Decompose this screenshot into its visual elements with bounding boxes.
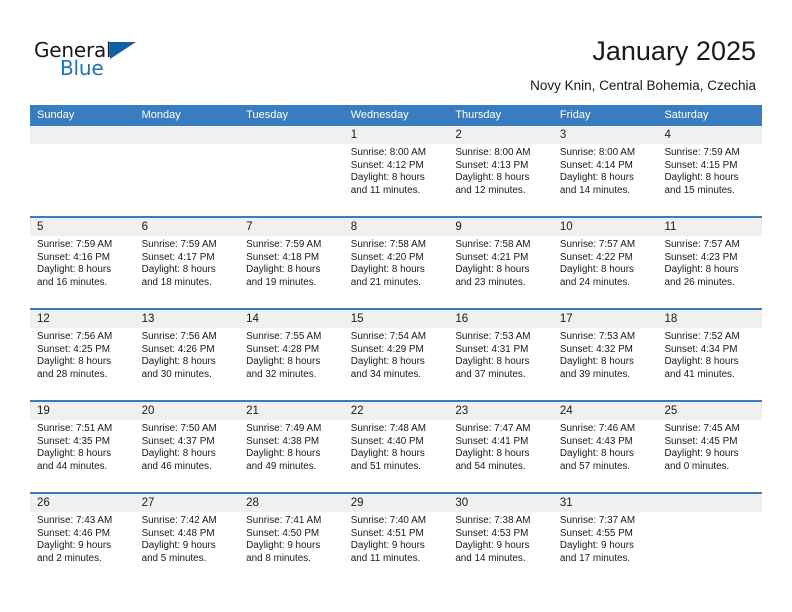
week-date-band: 19202122232425 (30, 402, 762, 420)
day-number-30[interactable]: 30 (448, 494, 553, 512)
day-cell-21[interactable]: Sunrise: 7:49 AMSunset: 4:38 PMDaylight:… (239, 420, 344, 492)
week-detail-band: Sunrise: 7:51 AMSunset: 4:35 PMDaylight:… (30, 420, 762, 492)
day-info-line: and 26 minutes. (664, 277, 756, 290)
day-cell-1[interactable]: Sunrise: 8:00 AMSunset: 4:12 PMDaylight:… (344, 144, 449, 216)
day-info-line: Sunrise: 7:58 AM (351, 239, 443, 252)
day-info-line: Daylight: 8 hours (37, 264, 129, 277)
day-cell-25[interactable]: Sunrise: 7:45 AMSunset: 4:45 PMDaylight:… (657, 420, 762, 492)
day-info-line: Daylight: 8 hours (246, 264, 338, 277)
day-info-line: Sunset: 4:29 PM (351, 344, 443, 357)
day-number-15[interactable]: 15 (344, 310, 449, 328)
day-info-line: Sunset: 4:32 PM (560, 344, 652, 357)
day-info-line: and 18 minutes. (142, 277, 234, 290)
triangle-icon (110, 42, 136, 59)
day-info-line: Daylight: 8 hours (142, 448, 234, 461)
day-info-line: Daylight: 8 hours (664, 356, 756, 369)
day-info-line: Sunset: 4:46 PM (37, 528, 129, 541)
day-cell-23[interactable]: Sunrise: 7:47 AMSunset: 4:41 PMDaylight:… (448, 420, 553, 492)
weekday-header-monday: Monday (135, 105, 240, 126)
day-cell-15[interactable]: Sunrise: 7:54 AMSunset: 4:29 PMDaylight:… (344, 328, 449, 400)
page-subtitle-location: Novy Knin, Central Bohemia, Czechia (530, 78, 756, 93)
day-info-line: Daylight: 8 hours (455, 264, 547, 277)
day-info-line: Sunrise: 7:41 AM (246, 515, 338, 528)
day-number-1[interactable]: 1 (344, 126, 449, 144)
day-cell-20[interactable]: Sunrise: 7:50 AMSunset: 4:37 PMDaylight:… (135, 420, 240, 492)
day-info-line: Sunrise: 7:53 AM (455, 331, 547, 344)
day-info-line: Sunset: 4:22 PM (560, 252, 652, 265)
day-info-line: Daylight: 9 hours (246, 540, 338, 553)
day-number-17[interactable]: 17 (553, 310, 658, 328)
week-detail-band: Sunrise: 7:56 AMSunset: 4:25 PMDaylight:… (30, 328, 762, 400)
day-info-line: and 39 minutes. (560, 369, 652, 382)
calendar-grid: SundayMondayTuesdayWednesdayThursdayFrid… (30, 105, 762, 584)
day-info-line: Sunrise: 7:57 AM (664, 239, 756, 252)
calendar-page: General Blue January 2025 Novy Knin, Cen… (0, 0, 792, 612)
day-info-line: Daylight: 8 hours (37, 448, 129, 461)
day-info-line: Daylight: 8 hours (560, 448, 652, 461)
weekday-header-saturday: Saturday (657, 105, 762, 126)
day-info-line: and 44 minutes. (37, 461, 129, 474)
day-info-line: Sunrise: 7:49 AM (246, 423, 338, 436)
day-info-line: Daylight: 8 hours (560, 172, 652, 185)
weekday-header-row: SundayMondayTuesdayWednesdayThursdayFrid… (30, 105, 762, 126)
day-info-line: and 34 minutes. (351, 369, 443, 382)
day-info-line: and 49 minutes. (246, 461, 338, 474)
day-cell-24[interactable]: Sunrise: 7:46 AMSunset: 4:43 PMDaylight:… (553, 420, 658, 492)
day-info-line: Sunrise: 7:57 AM (560, 239, 652, 252)
day-info-line: Daylight: 8 hours (246, 356, 338, 369)
day-number-empty (239, 126, 344, 144)
day-info-line: Sunset: 4:41 PM (455, 436, 547, 449)
day-cell-empty (135, 144, 240, 216)
day-info-line: Sunrise: 7:38 AM (455, 515, 547, 528)
day-cell-22[interactable]: Sunrise: 7:48 AMSunset: 4:40 PMDaylight:… (344, 420, 449, 492)
day-info-line: and 28 minutes. (37, 369, 129, 382)
day-info-line: Daylight: 8 hours (560, 264, 652, 277)
day-cell-17[interactable]: Sunrise: 7:53 AMSunset: 4:32 PMDaylight:… (553, 328, 658, 400)
day-number-2[interactable]: 2 (448, 126, 553, 144)
day-info-line: Sunrise: 7:59 AM (246, 239, 338, 252)
day-info-line: Sunset: 4:18 PM (246, 252, 338, 265)
day-number-14[interactable]: 14 (239, 310, 344, 328)
day-info-line: Sunset: 4:43 PM (560, 436, 652, 449)
day-number-21[interactable]: 21 (239, 402, 344, 420)
day-info-line: Sunrise: 7:53 AM (560, 331, 652, 344)
calendar-week-row: 19202122232425Sunrise: 7:51 AMSunset: 4:… (30, 400, 762, 492)
day-info-line: Sunrise: 7:43 AM (37, 515, 129, 528)
day-info-line: and 51 minutes. (351, 461, 443, 474)
week-date-band: 12131415161718 (30, 310, 762, 328)
calendar-week-row: 567891011Sunrise: 7:59 AMSunset: 4:16 PM… (30, 216, 762, 308)
day-cell-16[interactable]: Sunrise: 7:53 AMSunset: 4:31 PMDaylight:… (448, 328, 553, 400)
week-date-band: 1234 (30, 126, 762, 144)
week-detail-band: Sunrise: 8:00 AMSunset: 4:12 PMDaylight:… (30, 144, 762, 216)
day-number-31[interactable]: 31 (553, 494, 658, 512)
day-info-line: and 8 minutes. (246, 553, 338, 566)
day-info-line: Sunset: 4:50 PM (246, 528, 338, 541)
day-info-line: Sunrise: 7:59 AM (664, 147, 756, 160)
day-number-18[interactable]: 18 (657, 310, 762, 328)
day-info-line: Sunset: 4:23 PM (664, 252, 756, 265)
day-info-line: Daylight: 9 hours (664, 448, 756, 461)
page-header: General Blue January 2025 Novy Knin, Cen… (0, 0, 792, 100)
day-info-line: and 5 minutes. (142, 553, 234, 566)
day-info-line: Sunset: 4:53 PM (455, 528, 547, 541)
day-number-22[interactable]: 22 (344, 402, 449, 420)
day-info-line: Sunrise: 7:45 AM (664, 423, 756, 436)
day-info-line: Sunset: 4:16 PM (37, 252, 129, 265)
day-info-line: Sunrise: 7:48 AM (351, 423, 443, 436)
day-info-line: Sunrise: 7:52 AM (664, 331, 756, 344)
day-number-27[interactable]: 27 (135, 494, 240, 512)
day-info-line: Sunset: 4:38 PM (246, 436, 338, 449)
day-info-line: Sunrise: 7:56 AM (37, 331, 129, 344)
day-info-line: and 2 minutes. (37, 553, 129, 566)
day-info-line: and 14 minutes. (560, 185, 652, 198)
day-info-line: Daylight: 8 hours (37, 356, 129, 369)
day-number-6[interactable]: 6 (135, 218, 240, 236)
day-info-line: Daylight: 9 hours (142, 540, 234, 553)
day-info-line: Sunset: 4:40 PM (351, 436, 443, 449)
day-info-line: Sunset: 4:12 PM (351, 160, 443, 173)
day-number-26[interactable]: 26 (30, 494, 135, 512)
day-number-12[interactable]: 12 (30, 310, 135, 328)
day-info-line: Daylight: 8 hours (142, 264, 234, 277)
day-cell-5[interactable]: Sunrise: 7:59 AMSunset: 4:16 PMDaylight:… (30, 236, 135, 308)
day-info-line: Sunset: 4:51 PM (351, 528, 443, 541)
day-number-4[interactable]: 4 (657, 126, 762, 144)
day-info-line: Daylight: 9 hours (455, 540, 547, 553)
day-info-line: Sunrise: 7:54 AM (351, 331, 443, 344)
calendar-week-row: 12131415161718Sunrise: 7:56 AMSunset: 4:… (30, 308, 762, 400)
calendar-week-row: 1234Sunrise: 8:00 AMSunset: 4:12 PMDayli… (30, 126, 762, 216)
day-cell-9[interactable]: Sunrise: 7:58 AMSunset: 4:21 PMDaylight:… (448, 236, 553, 308)
day-info-line: and 0 minutes. (664, 461, 756, 474)
day-info-line: Sunrise: 7:58 AM (455, 239, 547, 252)
day-info-line: Sunset: 4:15 PM (664, 160, 756, 173)
day-info-line: Daylight: 8 hours (664, 264, 756, 277)
weekday-header-tuesday: Tuesday (239, 105, 344, 126)
day-info-line: Daylight: 8 hours (560, 356, 652, 369)
day-info-line: Daylight: 8 hours (351, 448, 443, 461)
day-info-line: and 15 minutes. (664, 185, 756, 198)
day-info-line: and 11 minutes. (351, 185, 443, 198)
day-info-line: Sunrise: 7:59 AM (37, 239, 129, 252)
day-info-line: and 46 minutes. (142, 461, 234, 474)
day-info-line: and 12 minutes. (455, 185, 547, 198)
calendar-week-row: 262728293031Sunrise: 7:43 AMSunset: 4:46… (30, 492, 762, 584)
day-info-line: Daylight: 8 hours (455, 356, 547, 369)
day-number-29[interactable]: 29 (344, 494, 449, 512)
day-number-empty (657, 494, 762, 512)
day-number-3[interactable]: 3 (553, 126, 658, 144)
weekday-header-thursday: Thursday (448, 105, 553, 126)
day-cell-7[interactable]: Sunrise: 7:59 AMSunset: 4:18 PMDaylight:… (239, 236, 344, 308)
day-info-line: Sunset: 4:37 PM (142, 436, 234, 449)
day-number-9[interactable]: 9 (448, 218, 553, 236)
day-cell-29[interactable]: Sunrise: 7:40 AMSunset: 4:51 PMDaylight:… (344, 512, 449, 584)
day-number-16[interactable]: 16 (448, 310, 553, 328)
day-info-line: Sunrise: 7:47 AM (455, 423, 547, 436)
day-cell-11[interactable]: Sunrise: 7:57 AMSunset: 4:23 PMDaylight:… (657, 236, 762, 308)
generalblue-logo[interactable]: General Blue (34, 38, 154, 82)
day-info-line: Sunrise: 8:00 AM (351, 147, 443, 160)
day-info-line: and 41 minutes. (664, 369, 756, 382)
day-number-25[interactable]: 25 (657, 402, 762, 420)
day-number-empty (135, 126, 240, 144)
day-info-line: and 17 minutes. (560, 553, 652, 566)
day-info-line: Sunrise: 7:55 AM (246, 331, 338, 344)
day-info-line: Sunrise: 7:59 AM (142, 239, 234, 252)
day-info-line: and 24 minutes. (560, 277, 652, 290)
day-cell-empty (239, 144, 344, 216)
day-info-line: Sunset: 4:34 PM (664, 344, 756, 357)
day-number-8[interactable]: 8 (344, 218, 449, 236)
day-cell-28[interactable]: Sunrise: 7:41 AMSunset: 4:50 PMDaylight:… (239, 512, 344, 584)
day-cell-14[interactable]: Sunrise: 7:55 AMSunset: 4:28 PMDaylight:… (239, 328, 344, 400)
day-number-28[interactable]: 28 (239, 494, 344, 512)
day-info-line: Sunset: 4:13 PM (455, 160, 547, 173)
day-info-line: Daylight: 8 hours (246, 448, 338, 461)
day-info-line: and 30 minutes. (142, 369, 234, 382)
day-info-line: Sunset: 4:55 PM (560, 528, 652, 541)
day-info-line: Daylight: 8 hours (455, 448, 547, 461)
day-info-line: Daylight: 9 hours (560, 540, 652, 553)
day-info-line: and 32 minutes. (246, 369, 338, 382)
day-number-20[interactable]: 20 (135, 402, 240, 420)
day-cell-12[interactable]: Sunrise: 7:56 AMSunset: 4:25 PMDaylight:… (30, 328, 135, 400)
day-cell-2[interactable]: Sunrise: 8:00 AMSunset: 4:13 PMDaylight:… (448, 144, 553, 216)
day-info-line: Daylight: 9 hours (37, 540, 129, 553)
day-info-line: and 19 minutes. (246, 277, 338, 290)
day-info-line: Daylight: 8 hours (455, 172, 547, 185)
day-cell-3[interactable]: Sunrise: 8:00 AMSunset: 4:14 PMDaylight:… (553, 144, 658, 216)
calendar-weeks: 1234Sunrise: 8:00 AMSunset: 4:12 PMDayli… (30, 126, 762, 584)
day-info-line: and 54 minutes. (455, 461, 547, 474)
day-info-line: Daylight: 9 hours (351, 540, 443, 553)
day-info-line: and 16 minutes. (37, 277, 129, 290)
day-cell-30[interactable]: Sunrise: 7:38 AMSunset: 4:53 PMDaylight:… (448, 512, 553, 584)
day-info-line: Sunrise: 7:50 AM (142, 423, 234, 436)
day-info-line: and 14 minutes. (455, 553, 547, 566)
day-info-line: Sunset: 4:17 PM (142, 252, 234, 265)
day-info-line: Sunrise: 7:42 AM (142, 515, 234, 528)
day-info-line: Sunset: 4:28 PM (246, 344, 338, 357)
day-cell-6[interactable]: Sunrise: 7:59 AMSunset: 4:17 PMDaylight:… (135, 236, 240, 308)
day-number-7[interactable]: 7 (239, 218, 344, 236)
day-cell-4[interactable]: Sunrise: 7:59 AMSunset: 4:15 PMDaylight:… (657, 144, 762, 216)
day-info-line: Daylight: 8 hours (142, 356, 234, 369)
day-info-line: and 37 minutes. (455, 369, 547, 382)
day-info-line: Daylight: 8 hours (351, 356, 443, 369)
weekday-header-friday: Friday (553, 105, 658, 126)
day-cell-26[interactable]: Sunrise: 7:43 AMSunset: 4:46 PMDaylight:… (30, 512, 135, 584)
weekday-header-sunday: Sunday (30, 105, 135, 126)
day-cell-18[interactable]: Sunrise: 7:52 AMSunset: 4:34 PMDaylight:… (657, 328, 762, 400)
day-info-line: Sunset: 4:25 PM (37, 344, 129, 357)
day-info-line: Sunset: 4:31 PM (455, 344, 547, 357)
day-cell-10[interactable]: Sunrise: 7:57 AMSunset: 4:22 PMDaylight:… (553, 236, 658, 308)
page-title: January 2025 (592, 36, 756, 67)
day-info-line: and 11 minutes. (351, 553, 443, 566)
day-info-line: Daylight: 8 hours (351, 172, 443, 185)
week-date-band: 567891011 (30, 218, 762, 236)
day-info-line: Sunset: 4:45 PM (664, 436, 756, 449)
week-detail-band: Sunrise: 7:59 AMSunset: 4:16 PMDaylight:… (30, 236, 762, 308)
day-info-line: Sunrise: 7:40 AM (351, 515, 443, 528)
day-info-line: Daylight: 8 hours (664, 172, 756, 185)
day-info-line: Sunset: 4:21 PM (455, 252, 547, 265)
day-info-line: Sunrise: 7:56 AM (142, 331, 234, 344)
week-detail-band: Sunrise: 7:43 AMSunset: 4:46 PMDaylight:… (30, 512, 762, 584)
day-info-line: Sunrise: 7:46 AM (560, 423, 652, 436)
weekday-header-wednesday: Wednesday (344, 105, 449, 126)
week-date-band: 262728293031 (30, 494, 762, 512)
day-info-line: Sunrise: 7:37 AM (560, 515, 652, 528)
day-number-10[interactable]: 10 (553, 218, 658, 236)
day-info-line: Sunset: 4:48 PM (142, 528, 234, 541)
day-info-line: and 23 minutes. (455, 277, 547, 290)
day-cell-empty (657, 512, 762, 584)
day-number-empty (30, 126, 135, 144)
day-info-line: and 57 minutes. (560, 461, 652, 474)
day-cell-empty (30, 144, 135, 216)
day-info-line: Sunrise: 7:51 AM (37, 423, 129, 436)
day-info-line: Sunset: 4:14 PM (560, 160, 652, 173)
day-info-line: Sunrise: 8:00 AM (455, 147, 547, 160)
day-cell-27[interactable]: Sunrise: 7:42 AMSunset: 4:48 PMDaylight:… (135, 512, 240, 584)
day-info-line: and 21 minutes. (351, 277, 443, 290)
day-cell-19[interactable]: Sunrise: 7:51 AMSunset: 4:35 PMDaylight:… (30, 420, 135, 492)
day-info-line: Sunset: 4:35 PM (37, 436, 129, 449)
day-cell-31[interactable]: Sunrise: 7:37 AMSunset: 4:55 PMDaylight:… (553, 512, 658, 584)
day-number-5[interactable]: 5 (30, 218, 135, 236)
day-number-13[interactable]: 13 (135, 310, 240, 328)
day-number-23[interactable]: 23 (448, 402, 553, 420)
day-number-19[interactable]: 19 (30, 402, 135, 420)
day-number-11[interactable]: 11 (657, 218, 762, 236)
day-info-line: Daylight: 8 hours (351, 264, 443, 277)
logo-text-blue: Blue (60, 56, 103, 80)
day-cell-8[interactable]: Sunrise: 7:58 AMSunset: 4:20 PMDaylight:… (344, 236, 449, 308)
day-info-line: Sunrise: 8:00 AM (560, 147, 652, 160)
day-info-line: Sunset: 4:20 PM (351, 252, 443, 265)
day-info-line: Sunset: 4:26 PM (142, 344, 234, 357)
day-cell-13[interactable]: Sunrise: 7:56 AMSunset: 4:26 PMDaylight:… (135, 328, 240, 400)
day-number-24[interactable]: 24 (553, 402, 658, 420)
